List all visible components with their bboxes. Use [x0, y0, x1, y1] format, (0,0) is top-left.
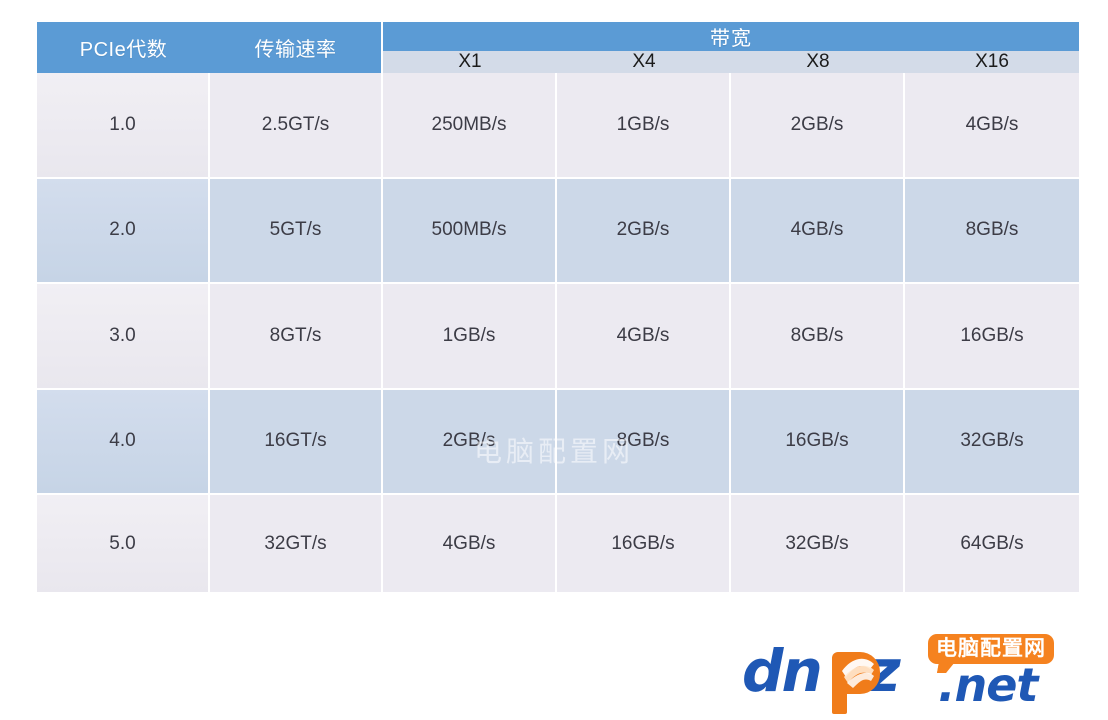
handshake-icon: [840, 655, 876, 689]
table-row: 5.0 32GT/s 4GB/s 16GB/s 32GB/s 64GB/s: [37, 495, 1079, 592]
cell-x4: 16GB/s: [557, 495, 731, 592]
cell-x1: 4GB/s: [383, 495, 557, 592]
cell-x4: 8GB/s: [557, 390, 731, 496]
cell-generation: 2.0: [37, 179, 210, 285]
table-header: PCIe代数 传输速率 带宽 X1 X4 X8 X16: [37, 22, 1079, 73]
pcie-bandwidth-table-container: PCIe代数 传输速率 带宽 X1 X4 X8 X16 1.0 2.5GT/s …: [37, 22, 1078, 592]
table-row: 2.0 5GT/s 500MB/s 2GB/s 4GB/s 8GB/s: [37, 179, 1079, 285]
cell-x1: 1GB/s: [383, 284, 557, 390]
cell-x16: 4GB/s: [905, 73, 1079, 179]
cell-rate: 32GT/s: [210, 495, 383, 592]
cell-x4: 1GB/s: [557, 73, 731, 179]
cell-rate: 16GT/s: [210, 390, 383, 496]
cell-x1: 250MB/s: [383, 73, 557, 179]
cell-x16: 16GB/s: [905, 284, 1079, 390]
logo-p-handshake-icon: [826, 644, 882, 714]
cell-x8: 32GB/s: [731, 495, 905, 592]
cell-rate: 8GT/s: [210, 284, 383, 390]
cell-x16: 32GB/s: [905, 390, 1079, 496]
table-row: 1.0 2.5GT/s 250MB/s 1GB/s 2GB/s 4GB/s: [37, 73, 1079, 179]
table-row: 4.0 16GT/s 2GB/s 8GB/s 16GB/s 32GB/s: [37, 390, 1079, 496]
cell-x1: 500MB/s: [383, 179, 557, 285]
cell-generation: 1.0: [37, 73, 210, 179]
header-lane-x4: X4: [557, 51, 731, 73]
cell-x8: 8GB/s: [731, 284, 905, 390]
cell-x16: 8GB/s: [905, 179, 1079, 285]
logo-badge-speech-bubble: 电脑配置网: [928, 634, 1054, 664]
cell-rate: 2.5GT/s: [210, 73, 383, 179]
header-transfer-rate: 传输速率: [210, 22, 383, 73]
header-lane-x1: X1: [383, 51, 557, 73]
header-pcie-generation: PCIe代数: [37, 22, 210, 73]
cell-x16: 64GB/s: [905, 495, 1079, 592]
table-body: 1.0 2.5GT/s 250MB/s 1GB/s 2GB/s 4GB/s 2.…: [37, 73, 1079, 592]
cell-x4: 2GB/s: [557, 179, 731, 285]
header-bandwidth-group: 带宽: [383, 22, 1079, 51]
cell-generation: 4.0: [37, 390, 210, 496]
pcie-bandwidth-table: PCIe代数 传输速率 带宽 X1 X4 X8 X16 1.0 2.5GT/s …: [37, 22, 1079, 592]
cell-x8: 4GB/s: [731, 179, 905, 285]
logo-text-dn: dn: [742, 637, 821, 705]
site-logo: dnz .net 电脑配置网: [742, 636, 1082, 714]
page-root: PCIe代数 传输速率 带宽 X1 X4 X8 X16 1.0 2.5GT/s …: [0, 0, 1108, 720]
cell-x4: 4GB/s: [557, 284, 731, 390]
cell-generation: 5.0: [37, 495, 210, 592]
table-row: 3.0 8GT/s 1GB/s 4GB/s 8GB/s 16GB/s: [37, 284, 1079, 390]
cell-x1: 2GB/s: [383, 390, 557, 496]
header-lane-x8: X8: [731, 51, 905, 73]
header-row-top: PCIe代数 传输速率 带宽: [37, 22, 1079, 51]
header-lane-x16: X16: [905, 51, 1079, 73]
cell-rate: 5GT/s: [210, 179, 383, 285]
cell-generation: 3.0: [37, 284, 210, 390]
cell-x8: 2GB/s: [731, 73, 905, 179]
cell-x8: 16GB/s: [731, 390, 905, 496]
